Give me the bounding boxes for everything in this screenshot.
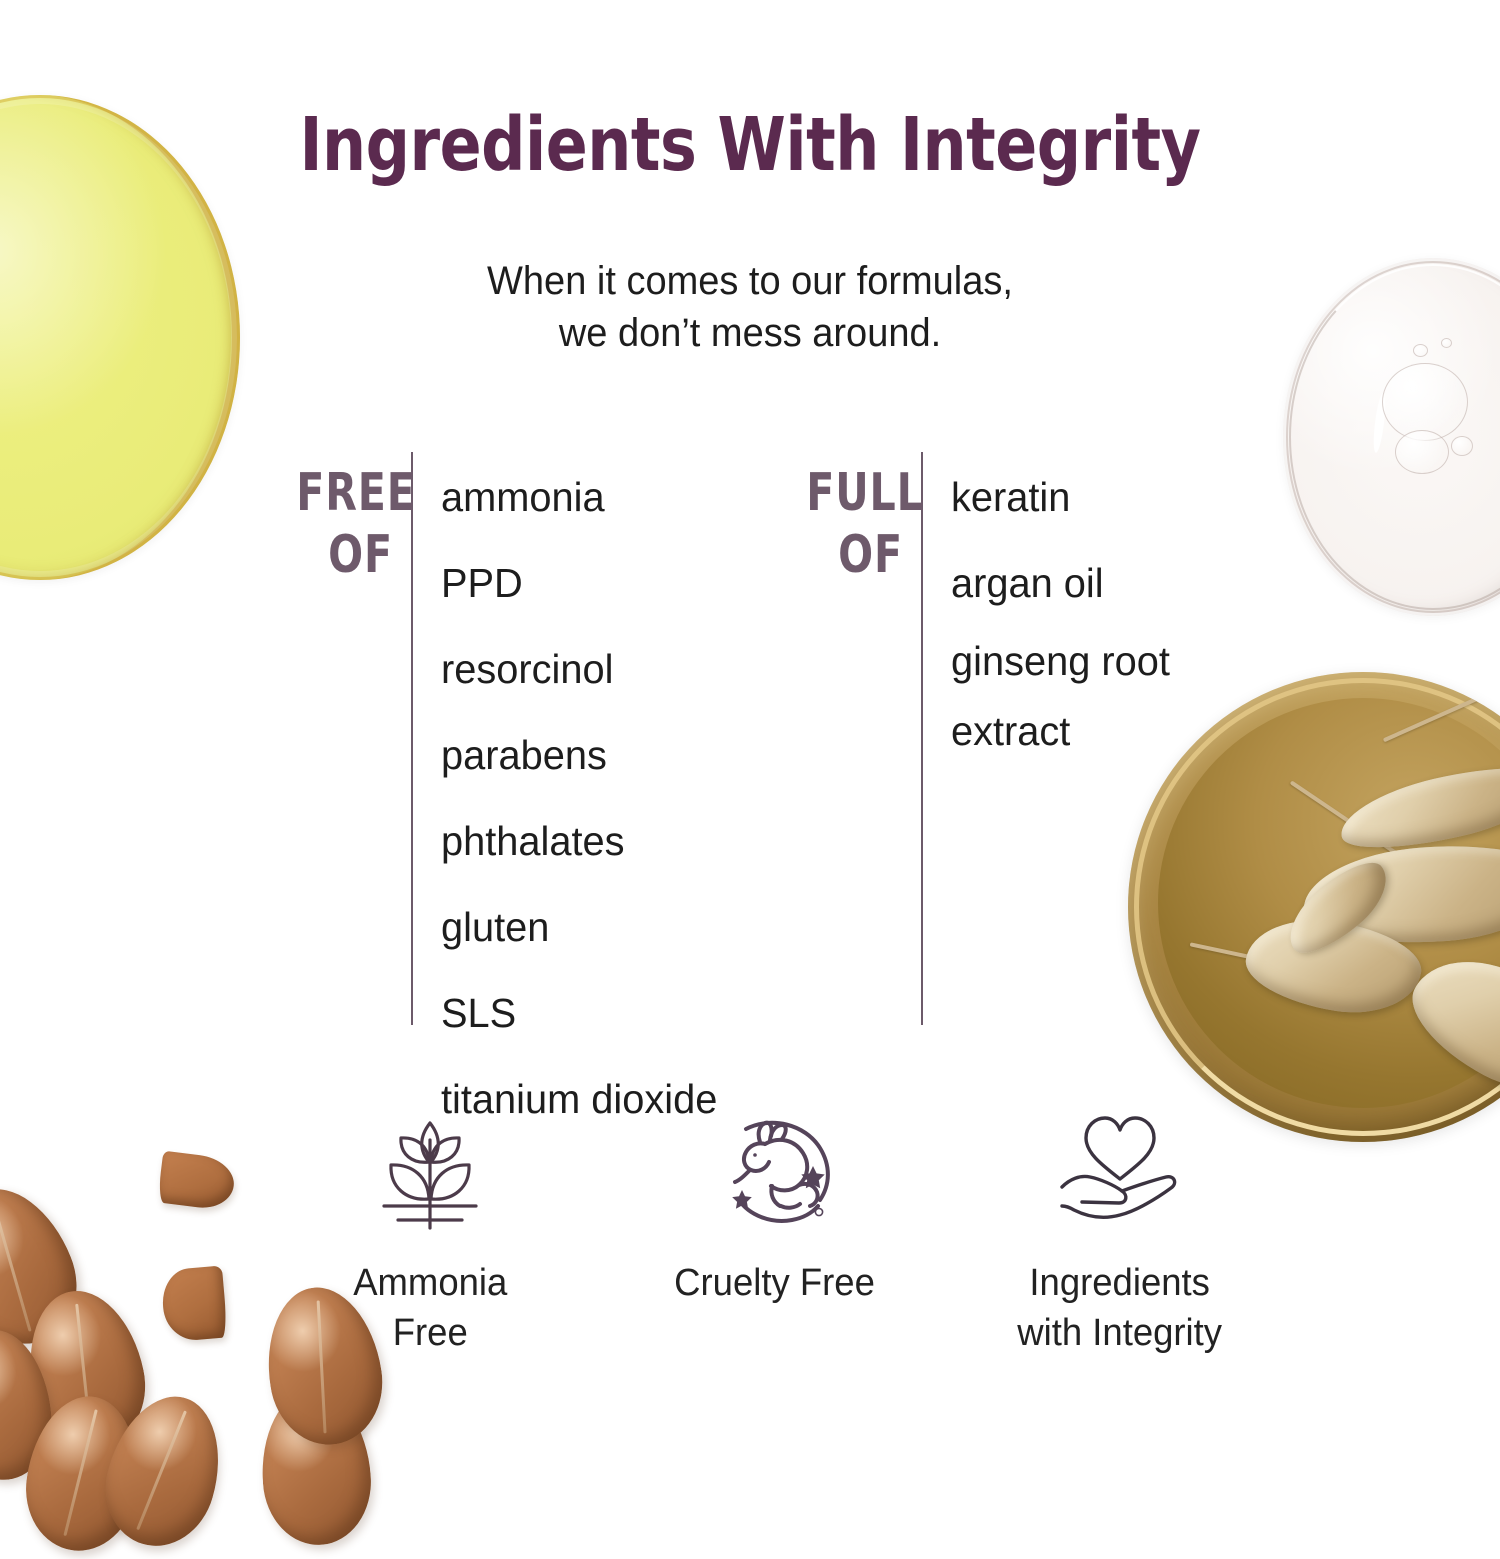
leaping-bunny-icon: [713, 1108, 837, 1236]
argan-shell-fragment: [160, 1265, 228, 1342]
full-of-label-line-2: OF: [806, 524, 903, 586]
badge-caption-line-2: with Integrity: [1018, 1308, 1223, 1358]
badge-cruelty-free: Cruelty Free: [625, 1108, 925, 1358]
list-item: phthalates: [441, 798, 717, 884]
ginseng-rootlet: [1383, 686, 1500, 743]
list-item: SLS: [441, 970, 717, 1056]
ginseng-root: [1240, 909, 1427, 1023]
badge-caption-line-1: Cruelty Free: [675, 1262, 876, 1304]
badge-caption: Cruelty Free: [675, 1258, 876, 1308]
badge-caption: Ingredients with Integrity: [1018, 1258, 1223, 1358]
bowl-rim: [1134, 678, 1500, 1136]
subtitle-line-2: we don’t mess around.: [38, 307, 1463, 359]
plant-sprout-icon: [370, 1108, 490, 1236]
gel-bubble: [1382, 363, 1468, 441]
gel-bubble: [1451, 436, 1473, 456]
page-title: Ingredients With Integrity: [53, 108, 1448, 182]
bowl-interior: [1158, 698, 1500, 1108]
list-item: argan oil: [951, 540, 1170, 626]
list-item: ginseng root: [951, 626, 1170, 696]
free-of-column: FREE OF ammonia PPD resorcinol parabens …: [283, 452, 726, 1142]
list-item: keratin: [951, 454, 1170, 540]
full-of-label: FULL OF: [806, 452, 903, 586]
gel-bubble: [1395, 430, 1449, 474]
list-item: ammonia: [441, 454, 717, 540]
subtitle-line-1: When it comes to our formulas,: [38, 255, 1463, 307]
page-subtitle: When it comes to our formulas, we don’t …: [38, 255, 1463, 359]
ginseng-rootlet: [1290, 780, 1417, 867]
certification-badges: Ammonia Free: [280, 1108, 1270, 1358]
full-of-list: keratin argan oil ginseng root extract: [923, 452, 1177, 766]
badge-caption-line-1: Ammonia: [353, 1262, 507, 1304]
ginseng-rootlet: [1437, 882, 1500, 965]
ginseng-root: [1394, 935, 1500, 1115]
ginseng-rootlet: [1190, 942, 1377, 985]
badge-ingredients-with-integrity: Ingredients with Integrity: [970, 1108, 1270, 1358]
brass-bowl-ginseng-photo: [1128, 672, 1500, 1142]
badge-caption-line-1: Ingredients: [1030, 1262, 1210, 1304]
argan-shell-fragment: [157, 1151, 237, 1212]
ginseng-root: [1334, 754, 1500, 863]
ginseng-root: [1275, 850, 1400, 967]
full-of-column: FULL OF keratin argan oil ginseng root e…: [793, 452, 1177, 1025]
gel-dish-highlight: [1371, 393, 1387, 454]
badge-ammonia-free: Ammonia Free: [280, 1108, 580, 1358]
free-of-list: ammonia PPD resorcinol parabens phthalat…: [413, 452, 726, 1142]
free-of-label-line-2: OF: [296, 524, 393, 586]
free-of-label: FREE OF: [296, 452, 393, 586]
ginseng-root: [1300, 838, 1500, 951]
list-item: PPD: [441, 540, 717, 626]
list-item: parabens: [441, 712, 717, 798]
list-item: gluten: [441, 884, 717, 970]
badge-caption-line-2: Free: [353, 1308, 507, 1358]
heart-in-hand-icon: [1056, 1108, 1184, 1236]
badge-caption: Ammonia Free: [353, 1258, 507, 1358]
full-of-label-line-1: FULL: [806, 462, 903, 524]
list-item: resorcinol: [441, 626, 717, 712]
free-of-label-line-1: FREE: [296, 462, 393, 524]
poster-canvas: Ingredients With Integrity When it comes…: [0, 0, 1500, 1500]
list-item: extract: [951, 696, 1170, 766]
